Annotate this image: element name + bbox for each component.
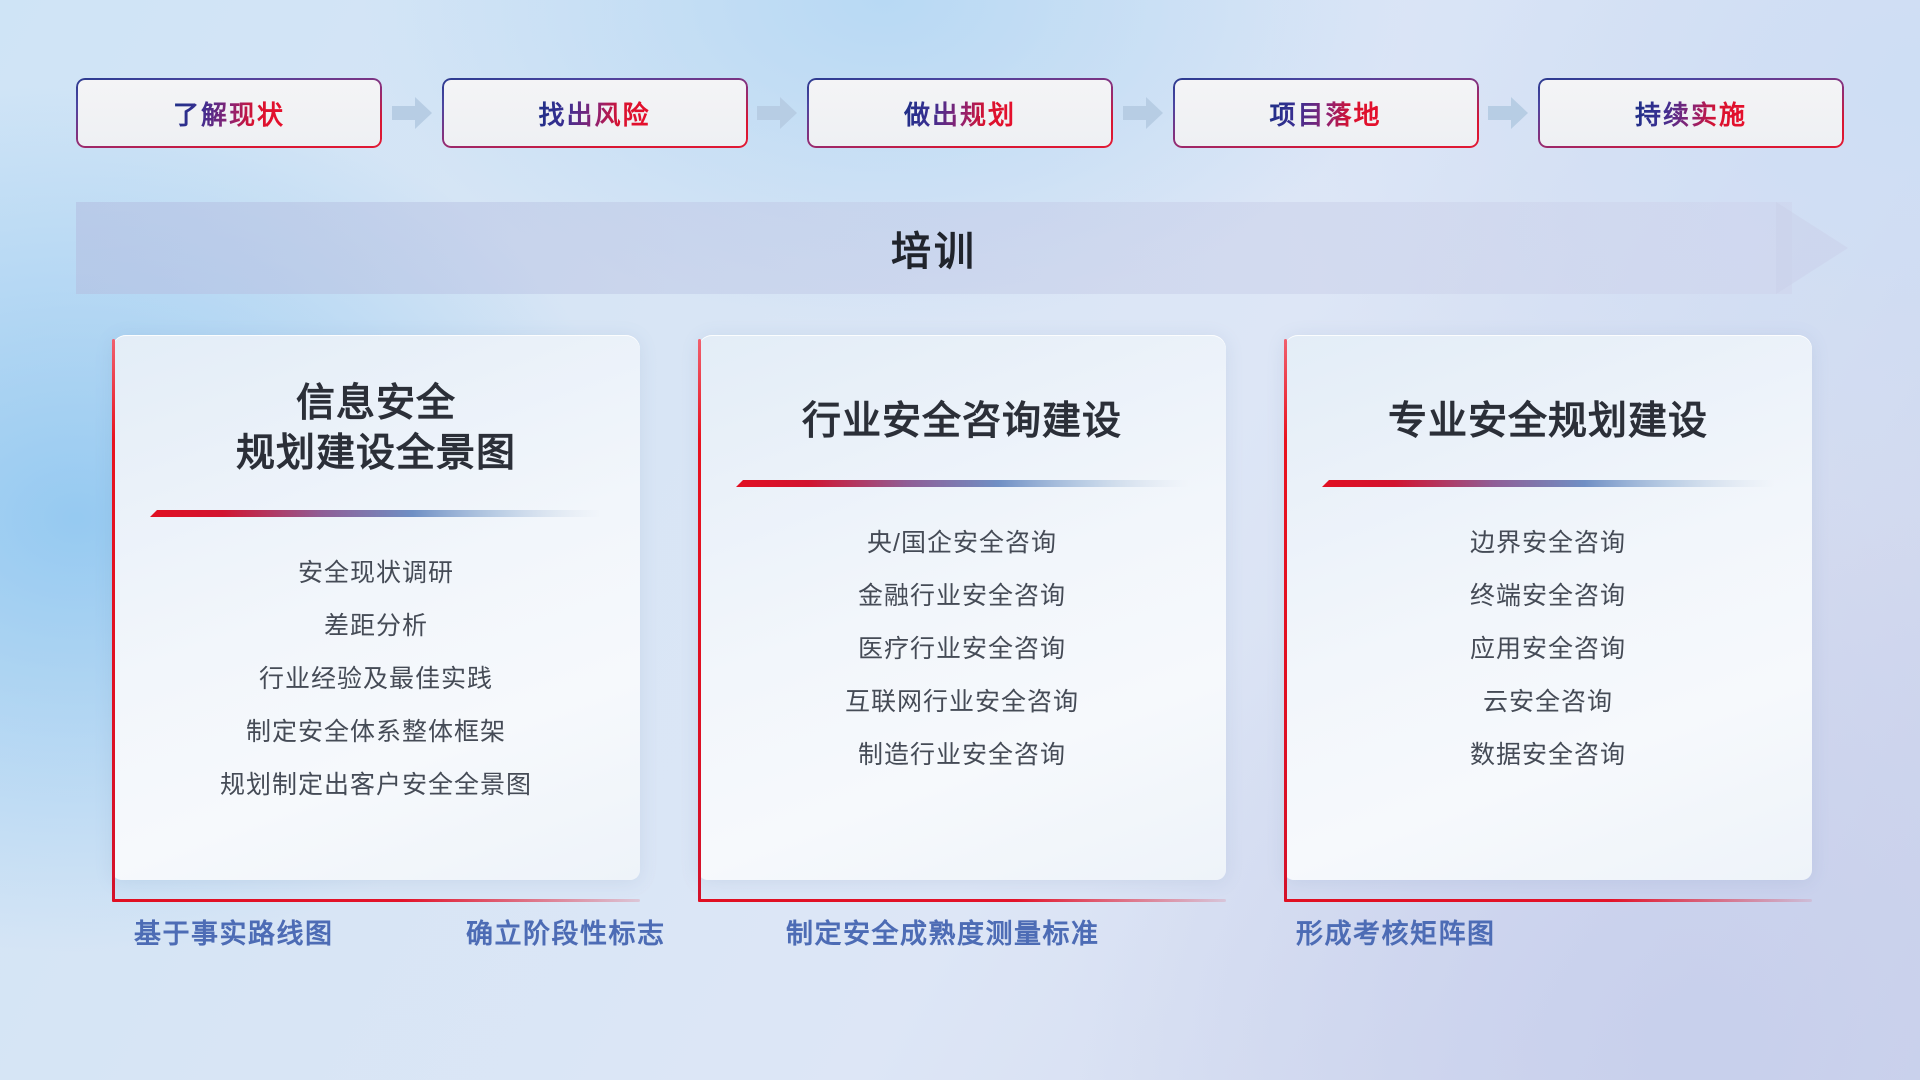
list-item: 终端安全咨询 xyxy=(1470,575,1626,618)
footer-label-3: 制定安全成熟度测量标准 xyxy=(786,912,1100,951)
list-item: 金融行业安全咨询 xyxy=(858,575,1066,618)
list-item: 安全现状调研 xyxy=(298,552,454,595)
list-item: 制定安全体系整体框架 xyxy=(246,711,506,754)
accent-underline xyxy=(150,505,602,514)
arrow-right-icon xyxy=(390,94,434,132)
list-item: 行业经验及最佳实践 xyxy=(259,658,493,701)
list-item: 医疗行业安全咨询 xyxy=(858,628,1066,671)
footer-labels-row: 基于事实路线图 确立阶段性标志 制定安全成熟度测量标准 形成考核矩阵图 xyxy=(0,912,1920,968)
card-title: 行业安全咨询建设 xyxy=(802,397,1122,447)
card-item-list: 边界安全咨询 终端安全咨询 应用安全咨询 云安全咨询 数据安全咨询 xyxy=(1284,522,1812,777)
arrow-right-icon xyxy=(1486,94,1530,132)
list-item: 云安全咨询 xyxy=(1483,681,1613,724)
list-item: 制造行业安全咨询 xyxy=(858,734,1066,777)
step-label-1: 了解现状 xyxy=(173,95,285,132)
arrow-right-icon xyxy=(1121,94,1165,132)
step-box-5[interactable]: 持续实施 xyxy=(1538,78,1844,148)
step-label-2: 找出风险 xyxy=(538,95,650,132)
list-item: 数据安全咨询 xyxy=(1470,734,1626,777)
step-box-4[interactable]: 项目落地 xyxy=(1173,78,1479,148)
list-item: 央/国企安全咨询 xyxy=(867,522,1057,565)
footer-label-4: 形成考核矩阵图 xyxy=(1296,912,1496,951)
card-professional-security-planning[interactable]: 专业安全规划建设 边界安全咨询 终端安全咨询 应用安全咨询 云安全咨询 数据安全… xyxy=(1284,335,1812,880)
list-item: 差距分析 xyxy=(324,605,428,648)
list-item: 规划制定出客户安全全景图 xyxy=(220,764,532,807)
card-title: 专业安全规划建设 xyxy=(1388,397,1708,447)
step-label-5: 持续实施 xyxy=(1635,95,1747,132)
list-item: 应用安全咨询 xyxy=(1470,628,1626,671)
process-steps-row: 了解现状 找出风险 做出规划 项目落地 持续实施 xyxy=(76,78,1844,148)
step-box-1[interactable]: 了解现状 xyxy=(76,78,382,148)
arrow-right-icon xyxy=(755,94,799,132)
footer-label-1: 基于事实路线图 xyxy=(134,912,334,951)
footer-label-2: 确立阶段性标志 xyxy=(466,912,666,951)
banner-title: 培训 xyxy=(76,202,1792,294)
accent-underline xyxy=(1322,475,1774,484)
step-label-3: 做出规划 xyxy=(904,95,1016,132)
card-title: 信息安全 规划建设全景图 xyxy=(236,379,516,479)
training-banner: 培训 xyxy=(76,202,1848,294)
card-industry-security-consulting[interactable]: 行业安全咨询建设 央/国企安全咨询 金融行业安全咨询 医疗行业安全咨询 互联网行… xyxy=(698,335,1226,880)
cards-row: 信息安全 规划建设全景图 安全现状调研 差距分析 行业经验及最佳实践 制定安全体… xyxy=(112,335,1812,880)
list-item: 边界安全咨询 xyxy=(1470,522,1626,565)
list-item: 互联网行业安全咨询 xyxy=(845,681,1079,724)
step-box-2[interactable]: 找出风险 xyxy=(442,78,748,148)
card-item-list: 央/国企安全咨询 金融行业安全咨询 医疗行业安全咨询 互联网行业安全咨询 制造行… xyxy=(698,522,1226,777)
card-information-security-panorama[interactable]: 信息安全 规划建设全景图 安全现状调研 差距分析 行业经验及最佳实践 制定安全体… xyxy=(112,335,640,880)
step-label-4: 项目落地 xyxy=(1269,95,1381,132)
card-item-list: 安全现状调研 差距分析 行业经验及最佳实践 制定安全体系整体框架 规划制定出客户… xyxy=(112,552,640,807)
step-box-3[interactable]: 做出规划 xyxy=(807,78,1113,148)
accent-underline xyxy=(736,475,1188,484)
